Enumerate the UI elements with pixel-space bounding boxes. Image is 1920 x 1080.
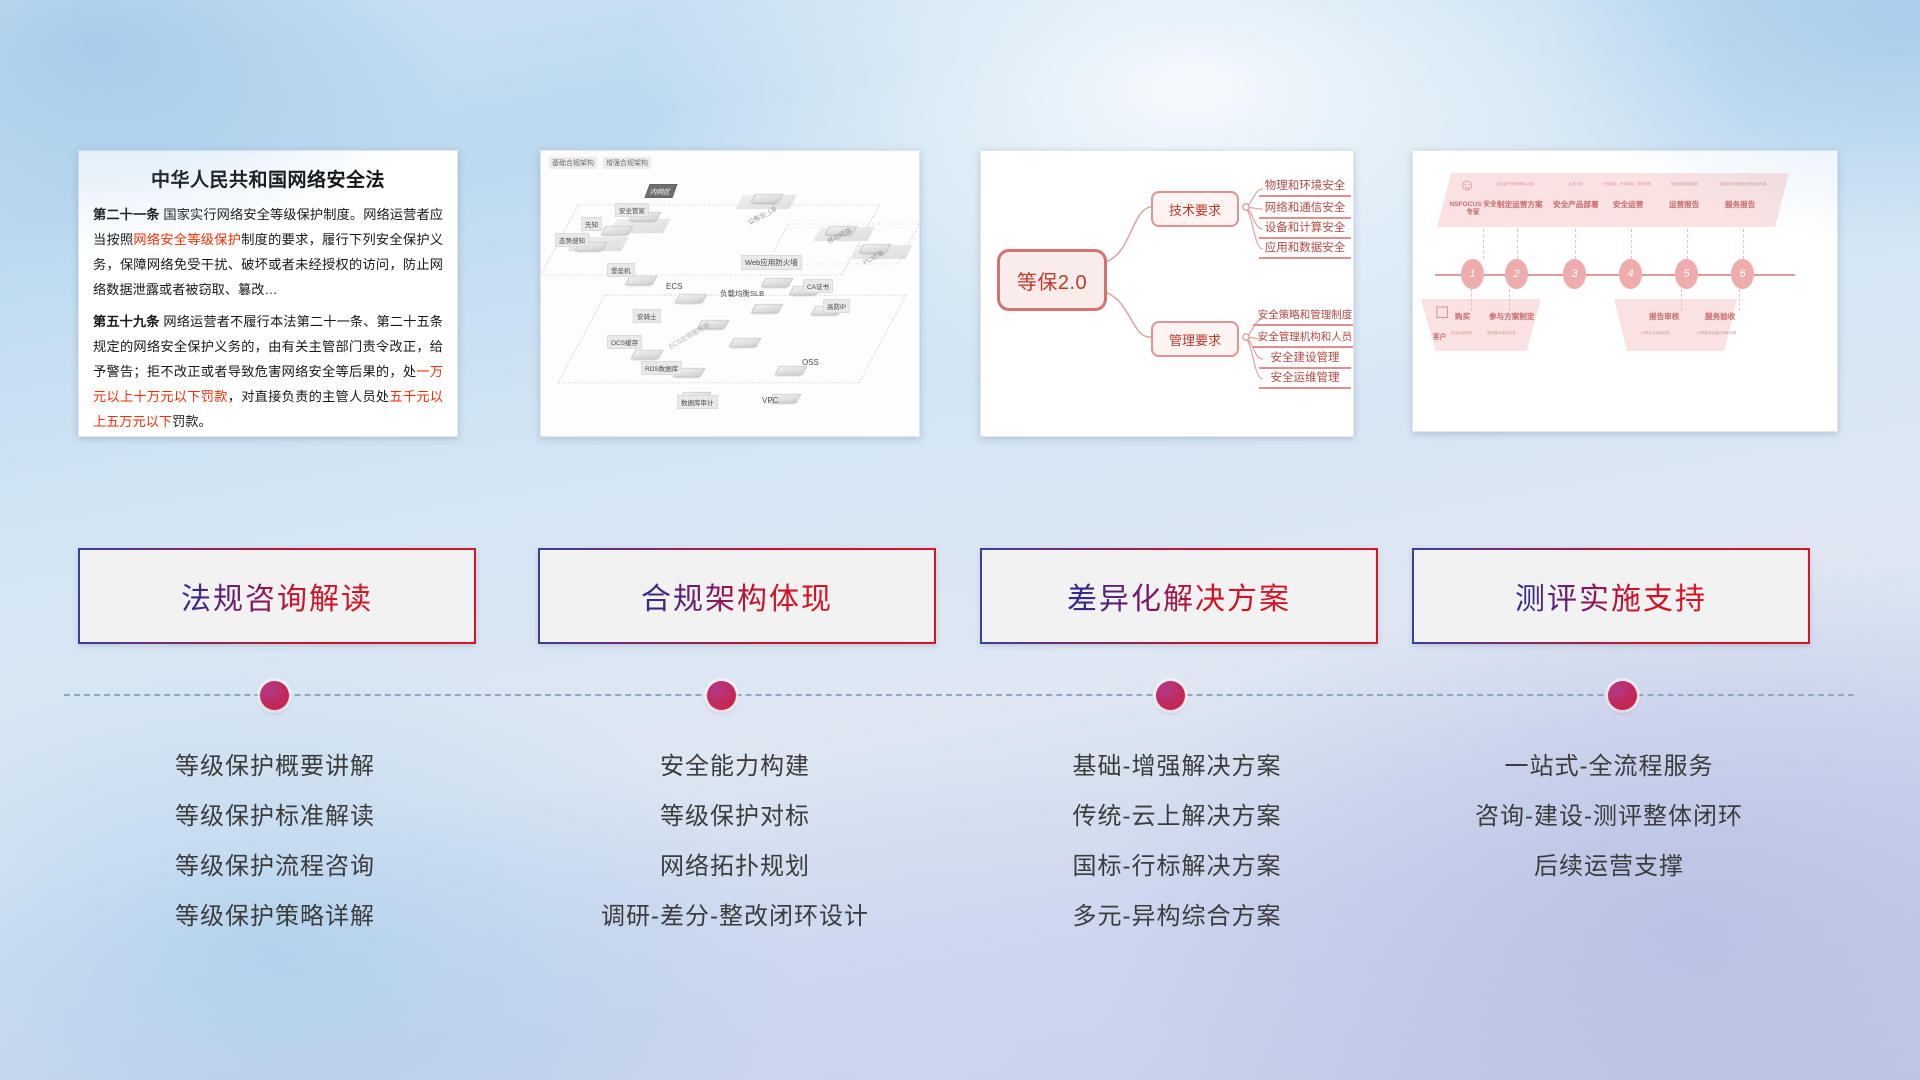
flow-band-customer-right: [1609, 299, 1737, 351]
flow-bottom-label-4: 服务验收: [1705, 311, 1735, 322]
flow-dash-4: [1631, 229, 1633, 259]
law-article-label-21: 第二十一条: [93, 207, 160, 222]
detail-list-assessment: 一站式-全流程服务 咨询-建设-测评整体闭环 后续运营支撑: [1412, 742, 1806, 892]
arch-node-steward: 安全管家: [615, 203, 649, 217]
heading-label-assessment: 测评实施支持: [1515, 574, 1707, 618]
list-item: 咨询-建设-测评整体闭环: [1412, 792, 1806, 842]
flow-dash-b4: [1739, 289, 1741, 311]
mindmap-root: 等保2.0: [997, 249, 1107, 311]
flow-bottom-label-3: 报告审核: [1649, 311, 1679, 322]
arch-box-xianzhi: [601, 226, 634, 235]
flow-dash-b3: [1681, 289, 1683, 311]
law-text-59b: ，对直接负责的主管人员处: [228, 389, 390, 404]
flow-dash-b2: [1509, 289, 1511, 311]
card-cloud-architecture[interactable]: 基础合规架构 增强合规架构: [540, 150, 920, 437]
flow-dash-1: [1483, 229, 1485, 259]
flow-step-3[interactable]: 3: [1563, 259, 1586, 289]
arch-node-vpc: VPC: [759, 395, 781, 406]
law-article-label-59: 第五十九条: [93, 314, 160, 329]
heading-row: 法规咨询解读 合规架构体现 差异化解决方案 测评实施支持: [0, 548, 1920, 648]
flow-dash-3: [1575, 229, 1577, 259]
heading-box-architecture[interactable]: 合规架构体现: [538, 548, 936, 644]
flow-bottom-sub-4: 评审整体运营方案和效果: [1697, 331, 1737, 336]
customer-avatar-icon: ☐: [1435, 303, 1449, 323]
flow-top-sub-1: 结合客户现状调研后出具: [1497, 181, 1534, 186]
flow-bottom-label-2: 参与方案制定: [1489, 311, 1535, 322]
list-item: 等级保护对标: [538, 792, 932, 842]
law-paragraph-59: 第五十九条 网络运营者不履行本法第二十一条、第二十五条规定的网络安全保护义务的，…: [93, 309, 443, 434]
law-paragraph-21: 第二十一条 国家实行网络安全等级保护制度。网络运营者应当按照网络安全等级保护制度…: [93, 202, 443, 302]
service-flow-diagram: ☺ NSFOCUS 安全专家 ☐ 客户 结合客户现状调研后出具 实施方案 日常巡…: [1413, 151, 1837, 431]
arch-node-slb: 负载均衡SLB: [717, 287, 767, 300]
arch-node-anqishi: 安骑士: [633, 309, 661, 323]
arch-box-ocs: [631, 350, 664, 359]
list-item: 等级保护概要讲解: [78, 742, 472, 792]
mindmap-leaf-policy: 安全策略和管理制度: [1253, 307, 1354, 326]
mindmap-branch-technical: 技术要求: [1151, 191, 1239, 227]
arch-node-ca: CA证书: [803, 279, 833, 293]
list-item: 等级保护策略详解: [78, 892, 472, 942]
flow-top-label-5: 服务报告: [1725, 199, 1755, 210]
arch-node-ocs: OCS缓存: [607, 335, 642, 349]
detail-list-regulation: 等级保护概要讲解 等级保护标准解读 等级保护流程咨询 等级保护策略详解: [78, 742, 472, 942]
detail-column-assessment: 一站式-全流程服务 咨询-建设-测评整体闭环 后续运营支撑: [1412, 742, 1806, 892]
slide-root: 中华人民共和国网络安全法 第二十一条 国家实行网络安全等级保护制度。网络运营者应…: [0, 0, 1920, 1080]
detail-column-architecture: 安全能力构建 等级保护对标 网络拓扑规划 调研-差分-整改闭环设计: [538, 742, 932, 942]
list-item: 国标-行标解决方案: [980, 842, 1374, 892]
flow-expert-role: NSFOCUS 安全专家: [1447, 201, 1499, 217]
detail-column-solution: 基础-增强解决方案 传统-云上解决方案 国标-行标解决方案 多元-异构综合方案: [980, 742, 1374, 942]
arch-node-gaofangip: 高防IP: [823, 299, 850, 313]
detail-list-architecture: 安全能力构建 等级保护对标 网络拓扑规划 调研-差分-整改闭环设计: [538, 742, 932, 942]
card-cybersecurity-law[interactable]: 中华人民共和国网络安全法 第二十一条 国家实行网络安全等级保护制度。网络运营者应…: [78, 150, 458, 437]
flow-bottom-sub-3: 评审安全运营效果: [1641, 331, 1670, 336]
heading-label-architecture: 合规架构体现: [641, 574, 833, 618]
mindmap-branch-management: 管理要求: [1151, 321, 1239, 357]
flow-top-label-3: 安全运营: [1613, 199, 1643, 210]
arch-box-waf: [761, 278, 794, 287]
arch-node-dbaudit: 数据库审计: [677, 395, 718, 409]
mindmap-leaf-org: 安全管理机构和人员: [1253, 329, 1354, 348]
flow-step-5[interactable]: 5: [1675, 259, 1698, 289]
list-item: 后续运营支撑: [1412, 842, 1806, 892]
flow-dash-b1: [1471, 289, 1473, 311]
detail-list-solution: 基础-增强解决方案 传统-云上解决方案 国标-行标解决方案 多元-异构综合方案: [980, 742, 1374, 942]
list-item: 网络拓扑规划: [538, 842, 932, 892]
arch-box-slb: [751, 304, 784, 313]
flow-step-1[interactable]: 1: [1461, 259, 1484, 289]
timeline-node-2[interactable]: [707, 681, 736, 710]
mindmap-leaf-app: 应用和数据安全: [1259, 239, 1351, 259]
list-item: 等级保护流程咨询: [78, 842, 472, 892]
architecture-tabs: 基础合规架构 增强合规架构: [549, 157, 651, 169]
mindmap-leaf-construct: 安全建设管理: [1259, 349, 1351, 369]
flow-dash-2: [1517, 229, 1519, 259]
law-text-59c: 罚款。: [172, 414, 212, 429]
list-item: 一站式-全流程服务: [1412, 742, 1806, 792]
mindmap-leaf-physical: 物理和环境安全: [1259, 177, 1351, 197]
flow-step-2[interactable]: 2: [1505, 259, 1528, 289]
heading-box-regulation[interactable]: 法规咨询解读: [78, 548, 476, 644]
flow-dash-5: [1687, 229, 1689, 259]
timeline-node-3[interactable]: [1156, 681, 1185, 710]
list-item: 传统-云上解决方案: [980, 792, 1374, 842]
law-title: 中华人民共和国网络安全法: [79, 165, 457, 192]
flow-dash-6: [1743, 229, 1745, 259]
flow-top-label-1: 制定运营方案: [1497, 199, 1543, 210]
arch-node-situation: 态势感知: [555, 233, 589, 247]
card-mindmap-dengbao[interactable]: 等保2.0 技术要求 管理要求 物理和环境安全 网络和通信安全 设备和计算安全 …: [980, 150, 1354, 437]
flow-bottom-label-1: 购买: [1455, 311, 1470, 322]
law-body: 第二十一条 国家实行网络安全等级保护制度。网络运营者应当按照网络安全等级保护制度…: [79, 202, 457, 434]
card-service-flow[interactable]: ☺ NSFOCUS 安全专家 ☐ 客户 结合客户现状调研后出具 实施方案 日常巡…: [1412, 150, 1838, 432]
connector-dashed-line: [64, 694, 1854, 698]
arch-node-waf: Web应用防火墙: [741, 255, 802, 270]
mindmap-leaf-ops: 安全运维管理: [1259, 369, 1351, 389]
mindmap-leaf-device: 设备和计算安全: [1259, 219, 1351, 239]
flow-top-label-2: 安全产品部署: [1553, 199, 1599, 210]
arch-tab-basic[interactable]: 基础合规架构: [549, 157, 597, 169]
flow-top-sub-5: 总体服务范围闭环总体运营效果: [1719, 181, 1766, 186]
expert-avatar-icon: ☺: [1459, 177, 1475, 195]
arch-node-rds: RDS数据库: [641, 361, 682, 375]
flow-bottom-sub-2: 提供基本现状信息: [1487, 331, 1516, 336]
flow-top-sub-2: 实施方案: [1569, 181, 1583, 186]
arch-node-oss: OSS: [799, 357, 822, 368]
arch-node-intranet: 内网区: [644, 184, 677, 198]
list-item: 安全能力构建: [538, 742, 932, 792]
timeline-node-1[interactable]: [260, 681, 289, 710]
arch-box-ecs: [675, 294, 708, 303]
arch-tab-enhanced[interactable]: 增强合规架构: [603, 157, 651, 169]
arch-node-ecs: ECS: [663, 281, 685, 292]
mindmap: 等保2.0 技术要求 管理要求 物理和环境安全 网络和通信安全 设备和计算安全 …: [981, 151, 1353, 436]
mindmap-leaf-network: 网络和通信安全: [1259, 199, 1351, 219]
arch-node-xianzhi: 先知: [581, 217, 602, 231]
flow-bottom-sub-1: 安全运营服务: [1451, 331, 1473, 336]
arch-box-bastion: [625, 276, 658, 285]
arch-box-lb: [751, 194, 784, 203]
flow-top-sub-3: 日常巡检、安全事件、异常处理: [1603, 181, 1650, 186]
heading-box-solution[interactable]: 差异化解决方案: [980, 548, 1378, 644]
detail-column-regulation: 等级保护概要讲解 等级保护标准解读 等级保护流程咨询 等级保护策略详解: [78, 742, 472, 942]
arch-box-ecs3: [729, 338, 762, 347]
list-item: 基础-增强解决方案: [980, 742, 1374, 792]
flow-top-sub-4: 阶段运营效果报告: [1671, 181, 1698, 186]
preview-card-row: 中华人民共和国网络安全法 第二十一条 国家实行网络安全等级保护制度。网络运营者应…: [0, 150, 1920, 440]
flow-customer-role: 客户: [1433, 331, 1446, 341]
heading-box-assessment[interactable]: 测评实施支持: [1412, 548, 1810, 644]
flow-top-label-4: 运营报告: [1669, 199, 1699, 210]
law-highlight-21: 网络安全等级保护: [133, 232, 241, 247]
arch-node-bastion: 堡垒机: [607, 263, 635, 277]
timeline-node-4[interactable]: [1608, 681, 1637, 710]
list-item: 等级保护标准解读: [78, 792, 472, 842]
heading-label-regulation: 法规咨询解读: [181, 574, 373, 618]
list-item: 调研-差分-整改闭环设计: [538, 892, 932, 942]
flow-step-6[interactable]: 6: [1731, 259, 1754, 289]
architecture-diagram: 基础合规架构 增强合规架构: [541, 151, 919, 436]
flow-step-4[interactable]: 4: [1619, 259, 1642, 289]
list-item: 多元-异构综合方案: [980, 892, 1374, 942]
heading-label-solution: 差异化解决方案: [1067, 574, 1291, 618]
